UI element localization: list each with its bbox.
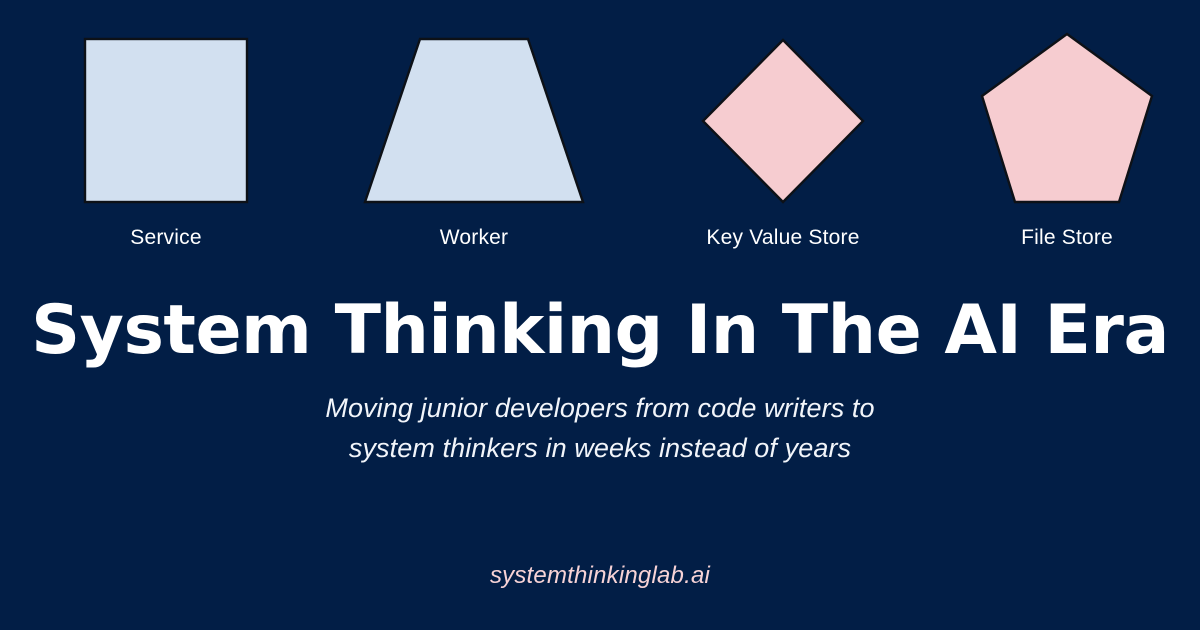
- page-title: System Thinking In The AI Era: [0, 296, 1200, 367]
- legend-item-worker: Worker: [354, 30, 594, 262]
- legend-label-file-store: File Store: [947, 226, 1187, 250]
- page-subtitle: Moving junior developers from code write…: [0, 389, 1200, 469]
- legend-item-file-store: File Store: [947, 30, 1187, 262]
- worker-trapezoid-shape-container: [354, 30, 594, 204]
- footer-site-url[interactable]: systemthinkinglab.ai: [0, 562, 1200, 590]
- shape-legend: Service Worker Key Value Store: [0, 0, 1200, 262]
- legend-label-key-value-store: Key Value Store: [663, 226, 903, 250]
- key-value-store-diamond-shape-container: [663, 30, 903, 204]
- headline-block: System Thinking In The AI Era Moving jun…: [0, 296, 1200, 469]
- worker-trapezoid-icon: [354, 30, 594, 204]
- service-square-icon: [46, 30, 286, 204]
- legend-item-service: Service: [46, 30, 286, 262]
- legend-label-service: Service: [46, 226, 286, 250]
- key-value-store-diamond-icon: [663, 30, 903, 204]
- file-store-pentagon-icon: [947, 30, 1187, 204]
- subtitle-line-2: system thinkers in weeks instead of year…: [0, 429, 1200, 469]
- subtitle-line-1: Moving junior developers from code write…: [0, 389, 1200, 429]
- poster-canvas: Service Worker Key Value Store: [0, 0, 1200, 630]
- legend-label-worker: Worker: [354, 226, 594, 250]
- file-store-pentagon-shape-container: [947, 30, 1187, 204]
- service-square-shape-container: [46, 30, 286, 204]
- legend-item-key-value-store: Key Value Store: [663, 30, 903, 262]
